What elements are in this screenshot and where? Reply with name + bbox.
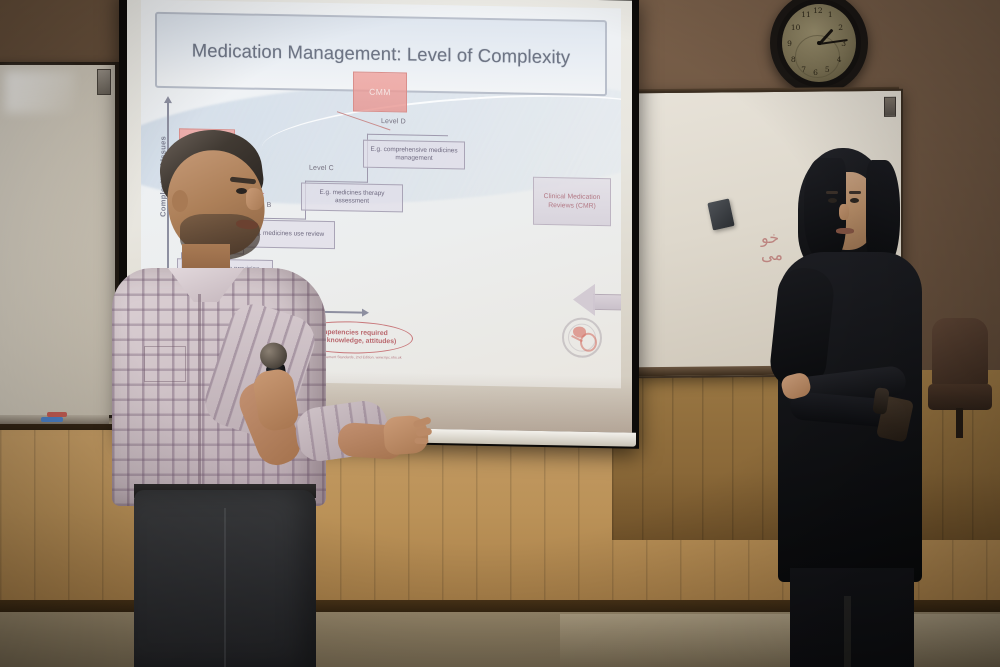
logo-loop <box>580 333 597 352</box>
presenter-jeans-seam <box>224 508 226 667</box>
chair-backrest <box>932 318 988 388</box>
whiteboard-glare <box>5 71 75 113</box>
clock-numeral-10: 10 <box>791 23 801 32</box>
woman-mouth <box>836 228 854 234</box>
clock-numeral-12: 12 <box>813 6 823 15</box>
presenter-ear <box>172 190 188 212</box>
clock-numeral-4: 4 <box>837 55 842 64</box>
woman-in-black <box>768 148 928 667</box>
clock-numeral-1: 1 <box>828 10 833 19</box>
lecture-hall-scene: 12 1 2 3 4 5 6 7 8 9 10 11 خو می <box>0 0 1000 667</box>
blue-marker[interactable] <box>41 417 63 422</box>
chair-seat <box>928 384 992 410</box>
presenter-shirt-pocket <box>144 346 186 382</box>
clock-face: 12 1 2 3 4 5 6 7 8 9 10 11 <box>782 4 856 82</box>
woman-trousers <box>790 568 914 667</box>
clock-center-pin <box>817 41 821 45</box>
page-title: Medication Management: Level of Complexi… <box>192 40 571 69</box>
red-marker[interactable] <box>47 412 67 417</box>
woman-eye-left <box>828 198 837 203</box>
clock-numeral-2: 2 <box>838 23 843 32</box>
background-chair <box>928 318 994 438</box>
woman-leg-gap <box>844 596 851 667</box>
presenter-shirt-placket <box>198 294 201 494</box>
woman-eye-right <box>850 198 859 203</box>
clock-numeral-5: 5 <box>825 65 830 74</box>
presenter-man <box>120 122 420 667</box>
woman-eyebrow-left <box>826 191 838 194</box>
clock-numeral-11: 11 <box>801 10 811 19</box>
clock-numeral-6: 6 <box>813 68 818 77</box>
clock-numeral-9: 9 <box>787 39 792 48</box>
left-whiteboard[interactable] <box>0 62 121 418</box>
presenter-finger-3 <box>414 438 428 444</box>
whiteboard-eraser[interactable] <box>707 198 734 230</box>
whiteboard-clip <box>97 69 111 95</box>
clock-numeral-8: 8 <box>791 55 796 64</box>
cmr-arrow-shaft <box>593 294 621 311</box>
cmr-arrow-head <box>573 284 595 316</box>
presenter-left-hand <box>383 415 430 456</box>
cmm-callout: CMM <box>353 71 407 112</box>
pharmacy-society-logo <box>562 317 602 358</box>
chair-leg <box>956 408 963 438</box>
clock-numeral-7: 7 <box>801 65 806 74</box>
woman-eyebrow-right <box>849 191 861 194</box>
presenter-nose <box>246 188 264 210</box>
right-whiteboard-clip <box>884 97 896 117</box>
cmr-callout: Clinical Medication Reviews (CMR) <box>533 177 611 226</box>
woman-nose <box>839 204 849 220</box>
